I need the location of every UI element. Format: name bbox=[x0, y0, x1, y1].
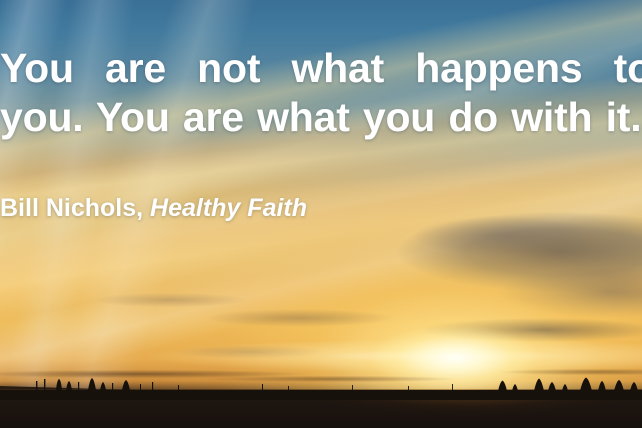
quote-image-card: You are not what happens to you. You are… bbox=[0, 0, 642, 428]
attribution-separator bbox=[143, 194, 150, 222]
tree-silhouettes bbox=[0, 360, 642, 400]
quote-line-2: you. You are what you do with it. bbox=[0, 93, 642, 142]
attribution-work-title: Healthy Faith bbox=[150, 194, 307, 222]
attribution-author: Bill Nichols, bbox=[0, 194, 143, 222]
attribution: Bill Nichols, Healthy Faith bbox=[0, 193, 307, 223]
quote-block: You are not what happens to you. You are… bbox=[0, 44, 642, 142]
quote-line-1: You are not what happens to bbox=[0, 44, 642, 93]
